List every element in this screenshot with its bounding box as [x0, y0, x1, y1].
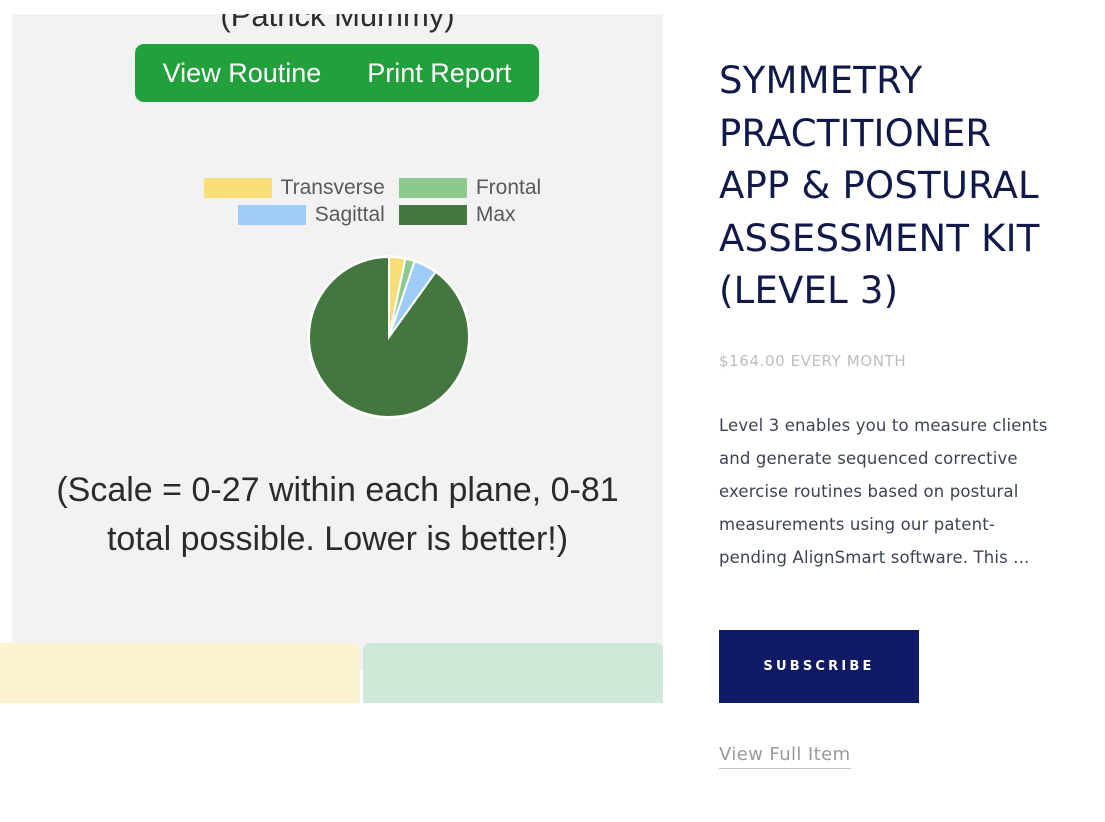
plane-card-strip	[0, 643, 1105, 703]
scale-note-text: (Scale = 0-27 within each plane, 0-81 to…	[30, 466, 645, 563]
transverse-plane-card[interactable]	[0, 643, 360, 703]
pie-chart-svg	[305, 253, 473, 421]
legend-swatch-transverse	[204, 178, 272, 198]
product-price: $164.00 EVERY MONTH	[719, 318, 1069, 370]
legend-item-transverse: Transverse	[192, 176, 385, 200]
patient-name-label: (Patrick Mummy)	[12, 14, 663, 34]
legend-swatch-frontal	[399, 178, 467, 198]
report-preview-panel: (Patrick Mummy) View Routine Print Repor…	[12, 14, 663, 670]
product-detail-column: SYMMETRY PRACTITIONER APP & POSTURAL ASS…	[719, 0, 1069, 574]
legend-item-sagittal: Sagittal	[192, 203, 385, 227]
legend-swatch-max	[399, 205, 467, 225]
legend-item-max: Max	[385, 203, 582, 227]
view-full-item-link[interactable]: View Full Item	[719, 744, 851, 769]
product-title: SYMMETRY PRACTITIONER APP & POSTURAL ASS…	[719, 0, 1069, 318]
legend-item-frontal: Frontal	[385, 176, 582, 200]
posture-score-pie-chart	[305, 253, 473, 421]
report-action-bar: View Routine Print Report	[135, 44, 539, 102]
legend-row: Sagittal Max	[192, 201, 582, 228]
subscribe-button[interactable]: SUBSCRIBE	[719, 630, 919, 703]
legend-label-transverse: Transverse	[281, 176, 385, 200]
frontal-plane-card[interactable]	[363, 643, 663, 703]
product-description: Level 3 enables you to measure clients a…	[719, 370, 1059, 574]
chart-legend: Transverse Frontal Sagittal Max	[192, 174, 582, 228]
legend-label-max: Max	[476, 203, 560, 227]
pie-slices	[309, 257, 469, 417]
pie-slice-max	[309, 257, 469, 417]
legend-label-sagittal: Sagittal	[315, 203, 385, 227]
legend-swatch-sagittal	[238, 205, 306, 225]
legend-row: Transverse Frontal	[192, 174, 582, 201]
print-report-button[interactable]: Print Report	[367, 60, 511, 87]
view-routine-button[interactable]: View Routine	[163, 60, 322, 87]
legend-label-frontal: Frontal	[476, 176, 560, 200]
